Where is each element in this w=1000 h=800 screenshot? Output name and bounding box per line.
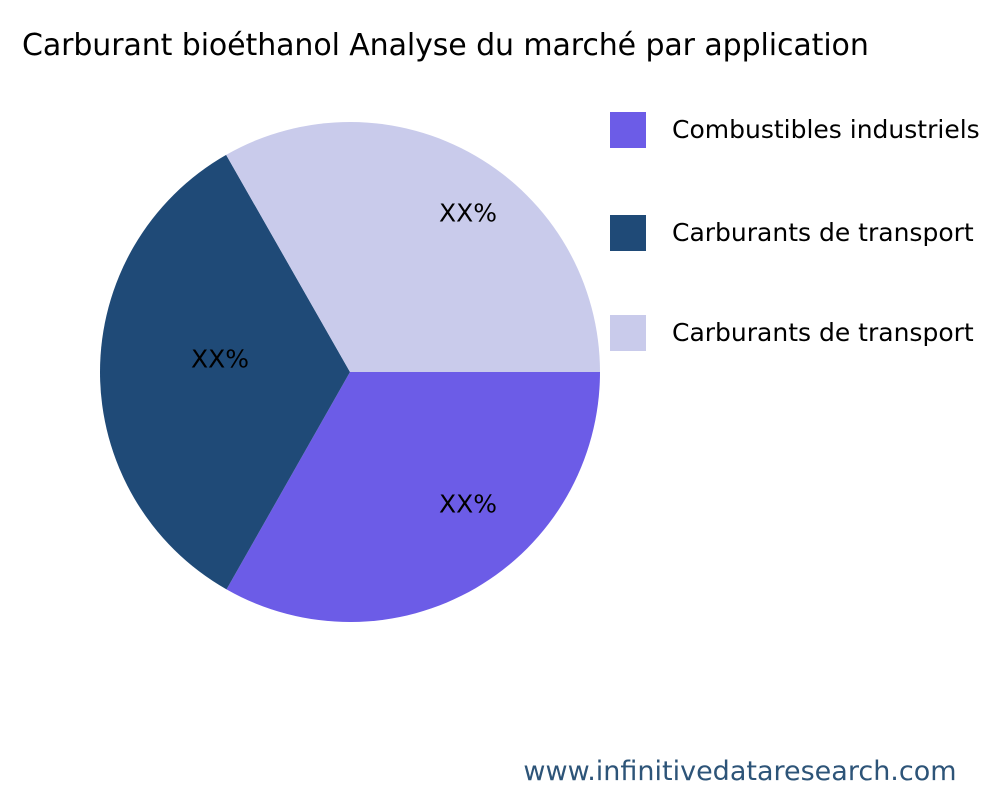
legend-item-label: Carburants de transport <box>672 318 974 348</box>
slice-data-label: XX% <box>439 492 497 517</box>
legend-color-swatch-icon <box>610 112 646 148</box>
legend-item-label: Combustibles industriels <box>672 115 980 145</box>
slice-data-label: XX% <box>439 201 497 226</box>
legend-item[interactable]: Carburants de transport <box>610 315 974 351</box>
legend-item-label: Carburants de transport <box>672 218 974 248</box>
legend-color-swatch-icon <box>610 215 646 251</box>
page-title: Carburant bioéthanol Analyse du marché p… <box>22 24 1000 68</box>
source-website-url: www.infinitivedataresearch.com <box>0 755 1000 789</box>
pie-chart: XX% XX% XX% <box>100 122 600 622</box>
slice-data-label: XX% <box>191 347 249 372</box>
legend-item[interactable]: Combustibles industriels <box>610 112 980 148</box>
legend-item[interactable]: Carburants de transport <box>610 215 974 251</box>
chart-canvas: Carburant bioéthanol Analyse du marché p… <box>0 0 1000 800</box>
legend-color-swatch-icon <box>610 315 646 351</box>
pie-svg <box>100 122 600 622</box>
